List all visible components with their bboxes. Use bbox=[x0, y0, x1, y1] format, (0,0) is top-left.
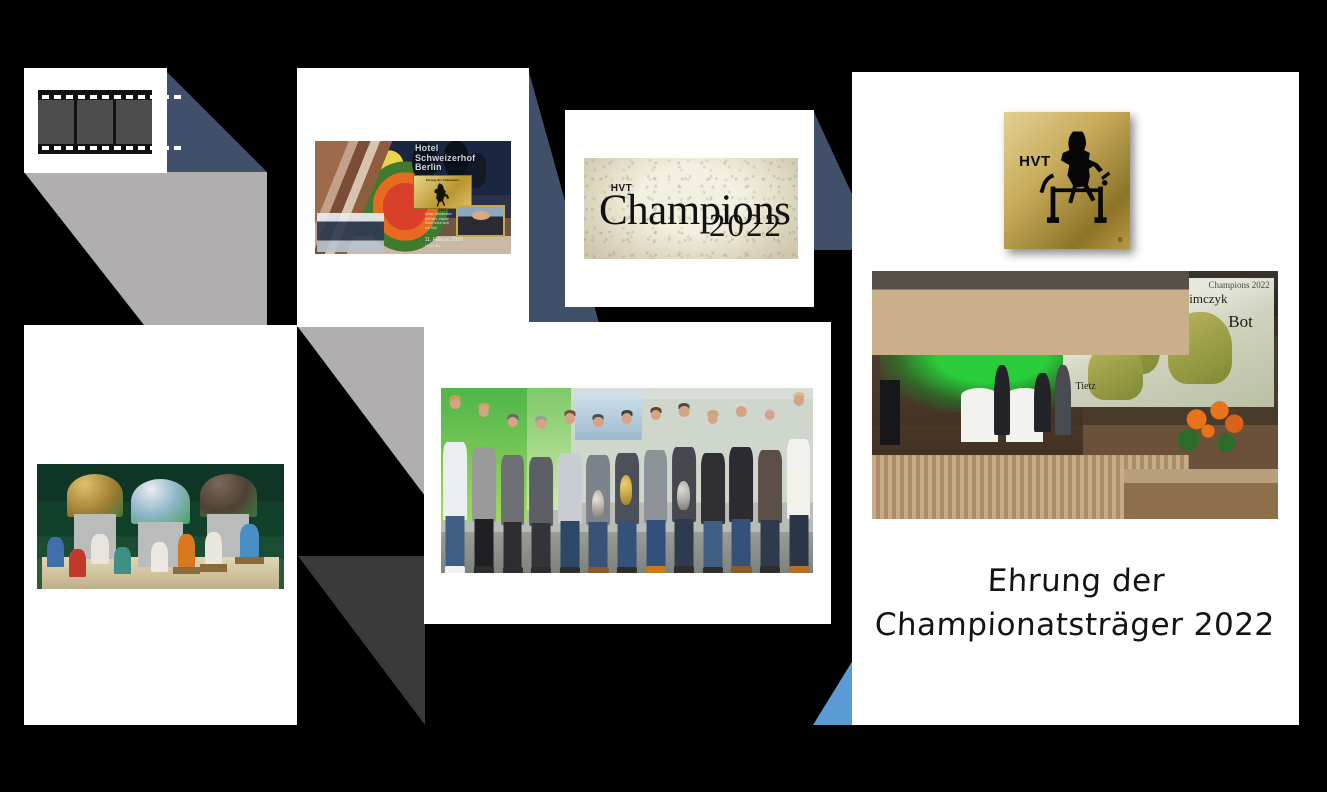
card-invitation[interactable]: Hotel Schweizerhof Berlin Ehrung der Cha… bbox=[297, 68, 529, 327]
page-title: Ehrung der Championatsträger 2022 bbox=[850, 559, 1300, 647]
screen-headline: Champions 2022 bbox=[1208, 280, 1269, 290]
trophy-in-hand bbox=[677, 481, 689, 510]
screen-name-bot: Bot bbox=[1228, 312, 1253, 332]
trophy-figurine-white-1 bbox=[91, 534, 108, 564]
trophy-figurine-orange bbox=[178, 534, 195, 567]
invitation-time: 19:00 Uhr bbox=[425, 244, 463, 249]
trophy-figurine-blue-2 bbox=[240, 524, 260, 557]
trophy-figurine-red bbox=[69, 549, 86, 577]
person bbox=[441, 395, 471, 573]
invitation-venue-line-3: Berlin bbox=[415, 163, 505, 172]
trophy-helmet-gold bbox=[67, 474, 124, 517]
trophy-figurine-orange-base bbox=[173, 567, 200, 575]
hvt-horse-sulky-icon bbox=[1032, 117, 1125, 243]
hall-flower-arrangement bbox=[1172, 400, 1253, 474]
person bbox=[612, 410, 643, 573]
person bbox=[526, 416, 557, 573]
hall-speaker-person-3 bbox=[1055, 365, 1071, 434]
trophies-photo bbox=[37, 464, 284, 589]
invitation-hotel-facade bbox=[317, 213, 384, 251]
invitation-badge-horse-icon bbox=[415, 182, 470, 208]
trophy-figurine-white-3 bbox=[205, 532, 222, 565]
hvt-logo-registered-mark: ® bbox=[1118, 238, 1122, 244]
card-ceremony[interactable]: HVT ® bbox=[852, 72, 1299, 725]
banner-year: 2022 bbox=[709, 210, 783, 243]
trophy-figurine-blue-2-base bbox=[235, 557, 265, 565]
invitation-image: Hotel Schweizerhof Berlin Ehrung der Cha… bbox=[315, 141, 511, 254]
hall-speaker-person-2 bbox=[1034, 373, 1050, 433]
person bbox=[583, 414, 614, 573]
person bbox=[669, 403, 700, 573]
trophy-in-hand bbox=[592, 490, 604, 519]
trophy-figurine-blue bbox=[47, 537, 64, 567]
invitation-badge: Ehrung der Champions 2022 bbox=[413, 175, 472, 209]
shadow-gray-right-of-left-card bbox=[298, 327, 425, 727]
trophy-figurine-white-2 bbox=[151, 542, 168, 572]
person bbox=[554, 410, 585, 573]
hvt-logo: HVT ® bbox=[1004, 112, 1130, 249]
hall-speaker-stack bbox=[880, 380, 900, 444]
title-line-2: Championatsträger 2022 bbox=[850, 603, 1299, 647]
film-perforation-bottom bbox=[38, 144, 152, 151]
group-photo bbox=[441, 388, 813, 573]
card-trophies[interactable] bbox=[24, 325, 297, 725]
invitation-datetime: 11. Februar 2023 19:00 Uhr bbox=[425, 237, 463, 249]
film-frames bbox=[38, 100, 152, 144]
group-photo-people bbox=[441, 388, 813, 573]
person bbox=[497, 414, 528, 573]
hall-stage bbox=[872, 271, 1189, 355]
shadow-slate-top-left bbox=[167, 72, 267, 172]
shadow-blue-bottom-right bbox=[813, 660, 853, 725]
trophy-in-hand bbox=[620, 475, 633, 504]
ceremony-photo: Nimczyk Bot Tietz Champions 2022 bbox=[872, 271, 1278, 519]
person bbox=[755, 407, 786, 574]
card-video-placeholder[interactable] bbox=[24, 68, 167, 173]
portrait-face bbox=[472, 211, 490, 221]
invitation-date: 11. Februar 2023 bbox=[425, 237, 463, 244]
person bbox=[697, 410, 728, 573]
person bbox=[640, 407, 671, 574]
film-strip-icon bbox=[38, 90, 152, 154]
slide-canvas: Hotel Schweizerhof Berlin Ehrung der Cha… bbox=[0, 0, 1327, 792]
card-champions-banner[interactable]: HVT Champions 2022 bbox=[565, 110, 814, 307]
card-group-photo[interactable] bbox=[424, 322, 831, 624]
person bbox=[783, 392, 813, 573]
trophy-helmet-bronze bbox=[200, 474, 257, 517]
hall-speaker-person-1 bbox=[994, 365, 1010, 434]
hall-cocktail-table-1 bbox=[961, 388, 998, 443]
invitation-moderator-portrait bbox=[456, 205, 505, 236]
trophy-figurine-white-3-base bbox=[200, 564, 227, 572]
hall-front-table bbox=[1124, 469, 1278, 519]
shadow-gray-upper-left bbox=[24, 172, 267, 327]
certificate-in-hand bbox=[788, 468, 799, 508]
screen-name-tietz: Tietz bbox=[1076, 381, 1096, 392]
trophy-figurine-teal bbox=[114, 547, 131, 575]
person bbox=[726, 403, 757, 573]
champions-banner-image: HVT Champions 2022 bbox=[584, 158, 798, 259]
invitation-venue: Hotel Schweizerhof Berlin bbox=[415, 144, 505, 172]
trophy-helmet-silver bbox=[131, 479, 190, 524]
person bbox=[469, 403, 500, 573]
film-perforation-top bbox=[38, 93, 152, 100]
title-line-1: Ehrung der bbox=[852, 559, 1301, 603]
